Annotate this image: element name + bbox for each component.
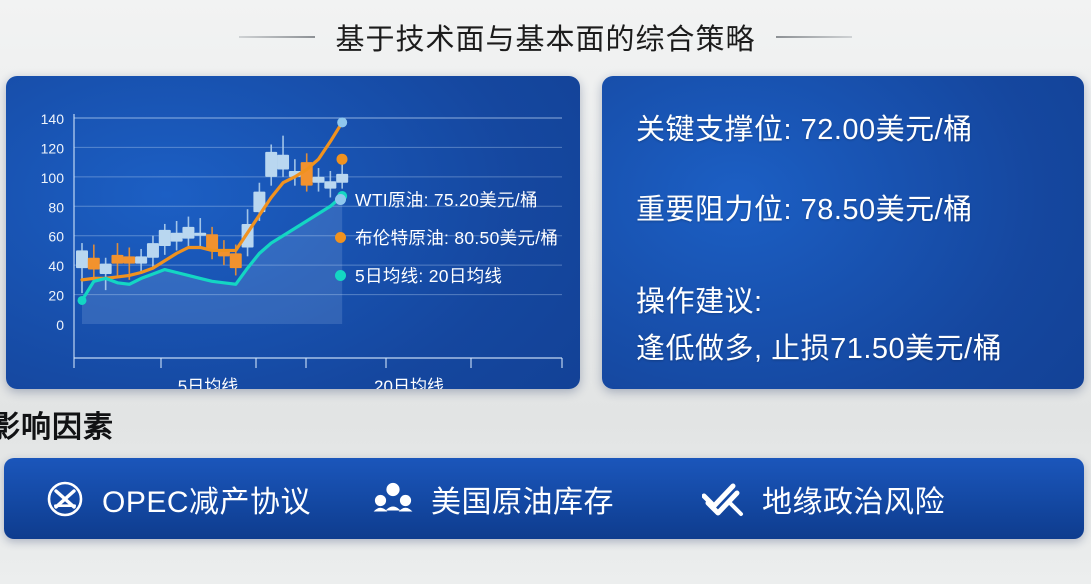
legend-dot-wti [335,194,346,205]
barrel-valve-icon [46,480,84,518]
factor-label-opec: OPEC减产协议 [102,477,311,521]
factors-heading: 影响因素 [0,402,114,446]
title-rule-left [239,36,315,38]
chart-panel: 0204060801001201405日均线20日均线 WTI原油: 75.20… [6,76,580,389]
key-levels-panel: 关键支撑位: 72.00美元/桶 重要阻力位: 78.50美元/桶 操作建议: … [602,76,1084,389]
factor-item-geopolitics[interactable]: 地缘政治风险 [702,477,945,521]
svg-text:100: 100 [41,170,65,186]
legend-label-brent: 布伦特原油: 80.50美元/桶 [355,225,558,250]
svg-text:0: 0 [56,317,64,333]
svg-text:5日均线: 5日均线 [178,377,238,389]
title-rule-right [776,36,852,38]
legend-label-ma: 5日均线: 20日均线 [355,263,502,288]
advice-text: 逢低做多, 止损71.50美元/桶 [636,325,1084,367]
svg-text:20: 20 [48,288,64,304]
svg-text:60: 60 [48,229,64,245]
people-group-icon [373,480,413,518]
legend-label-wti: WTI原油: 75.20美元/桶 [355,187,538,212]
svg-text:140: 140 [41,111,65,127]
key-resistance-level: 重要阻力位: 78.50美元/桶 [636,186,1084,228]
chart-legend: WTI原油: 75.20美元/桶 布伦特原油: 80.50美元/桶 5日均线: … [334,180,558,294]
legend-dot-ma [335,270,346,281]
page-title-row: 基于技术面与基本面的综合策略 [0,16,1091,58]
legend-item-wti: WTI原油: 75.20美元/桶 [334,180,558,218]
legend-item-brent: 布伦特原油: 80.50美元/桶 [334,218,558,256]
svg-text:80: 80 [48,199,64,215]
legend-dot-brent [335,232,346,243]
svg-text:40: 40 [48,258,64,274]
factor-label-inventory: 美国原油库存 [431,477,614,521]
legend-item-ma: 5日均线: 20日均线 [334,256,558,294]
double-check-icon [702,480,744,518]
factors-bar: OPEC减产协议 美国原油库存 地缘政治风险 [4,458,1084,539]
svg-text:20日均线: 20日均线 [374,377,444,389]
factor-item-opec[interactable]: OPEC减产协议 [46,477,311,521]
svg-text:120: 120 [41,140,65,156]
advice-label: 操作建议: [636,278,1084,320]
page-title: 基于技术面与基本面的综合策略 [335,16,755,58]
key-support-level: 关键支撑位: 72.00美元/桶 [636,106,1084,148]
factor-item-inventory[interactable]: 美国原油库存 [373,477,614,521]
factor-label-geopolitics: 地缘政治风险 [762,477,945,521]
